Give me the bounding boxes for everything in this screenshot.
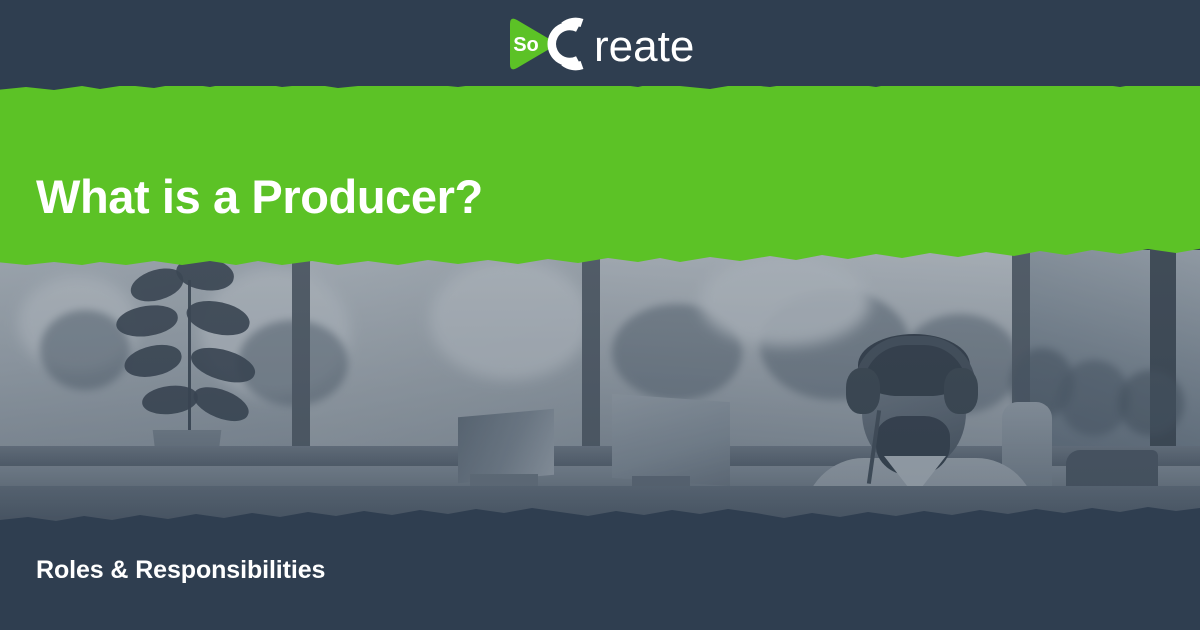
photo-band — [0, 250, 1200, 522]
category-label: Roles & Responsibilities — [36, 556, 325, 585]
photo-tint-layer — [0, 250, 1200, 522]
office-photo — [0, 250, 1200, 522]
page-title: What is a Producer? — [36, 171, 483, 224]
logo-so-text: So — [513, 34, 539, 56]
logo-create-text: reate — [594, 22, 694, 71]
social-share-card: So reate — [0, 0, 1200, 630]
header-bar: So reate — [0, 0, 1200, 86]
socreate-logo-svg: So reate — [502, 14, 698, 72]
socreate-logo[interactable]: So reate — [502, 14, 698, 72]
